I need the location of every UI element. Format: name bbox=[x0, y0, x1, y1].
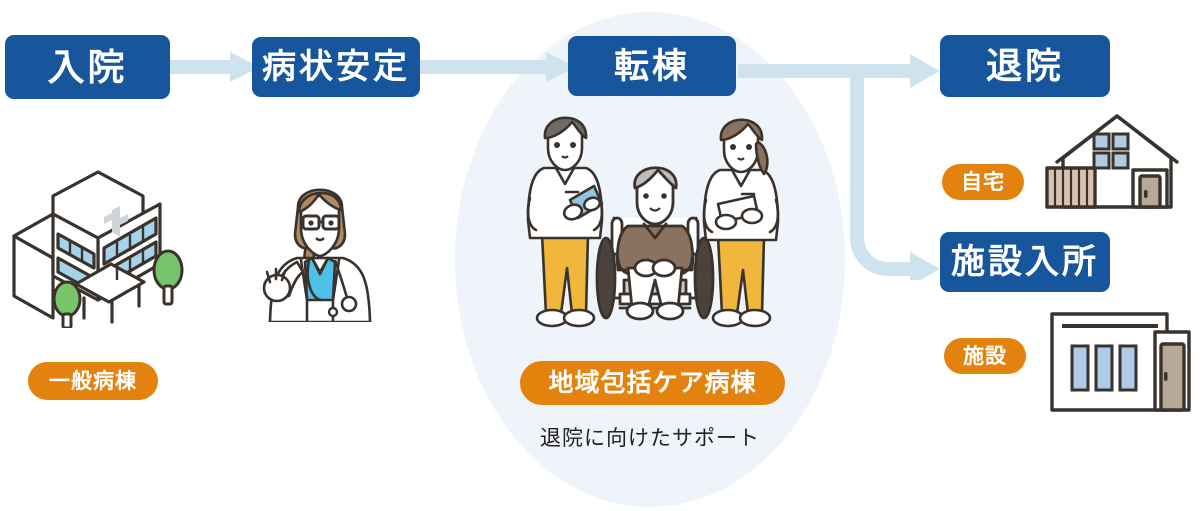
step-box-facility-admission[interactable]: 施設入所 bbox=[940, 232, 1110, 292]
step-label-facility-admission: 施設入所 bbox=[951, 245, 1099, 279]
flow-diagram: 入院 病状安定 転棟 退院 施設入所 bbox=[0, 0, 1200, 511]
step-box-discharge[interactable]: 退院 bbox=[940, 35, 1110, 97]
step-box-admission[interactable]: 入院 bbox=[5, 35, 170, 99]
house-icon bbox=[1045, 112, 1190, 217]
badge-home: 自宅 bbox=[942, 164, 1024, 200]
facility-building-icon bbox=[1048, 310, 1193, 420]
badge-label-general-ward: 一般病棟 bbox=[49, 371, 137, 392]
discharge-support-text: 退院に向けたサポート bbox=[540, 427, 760, 450]
badge-label-facility: 施設 bbox=[963, 346, 1007, 367]
step-label-transfer: 転棟 bbox=[614, 49, 690, 84]
facility-window-icon bbox=[1072, 346, 1136, 390]
hospital-building-icon bbox=[8, 168, 198, 328]
female-doctor-icon bbox=[255, 172, 385, 322]
badge-label-community-care-ward: 地域包括ケア病棟 bbox=[548, 371, 756, 396]
badge-general-ward: 一般病棟 bbox=[28, 362, 158, 400]
badge-label-home: 自宅 bbox=[961, 172, 1005, 193]
arrow-admission-to-stabilized bbox=[168, 52, 260, 82]
arrow-stabilized-to-transfer bbox=[418, 52, 576, 82]
badge-facility: 施設 bbox=[944, 338, 1026, 374]
care-team-wheelchair-icon bbox=[520, 108, 790, 346]
step-label-stabilized: 病状安定 bbox=[262, 50, 410, 84]
step-label-admission: 入院 bbox=[48, 49, 128, 86]
step-label-discharge: 退院 bbox=[986, 48, 1064, 84]
discharge-support-caption: 退院に向けたサポート bbox=[455, 428, 845, 449]
badge-community-care-ward: 地域包括ケア病棟 bbox=[520, 361, 785, 405]
step-box-stabilized[interactable]: 病状安定 bbox=[252, 37, 420, 97]
step-box-transfer[interactable]: 転棟 bbox=[568, 36, 736, 96]
